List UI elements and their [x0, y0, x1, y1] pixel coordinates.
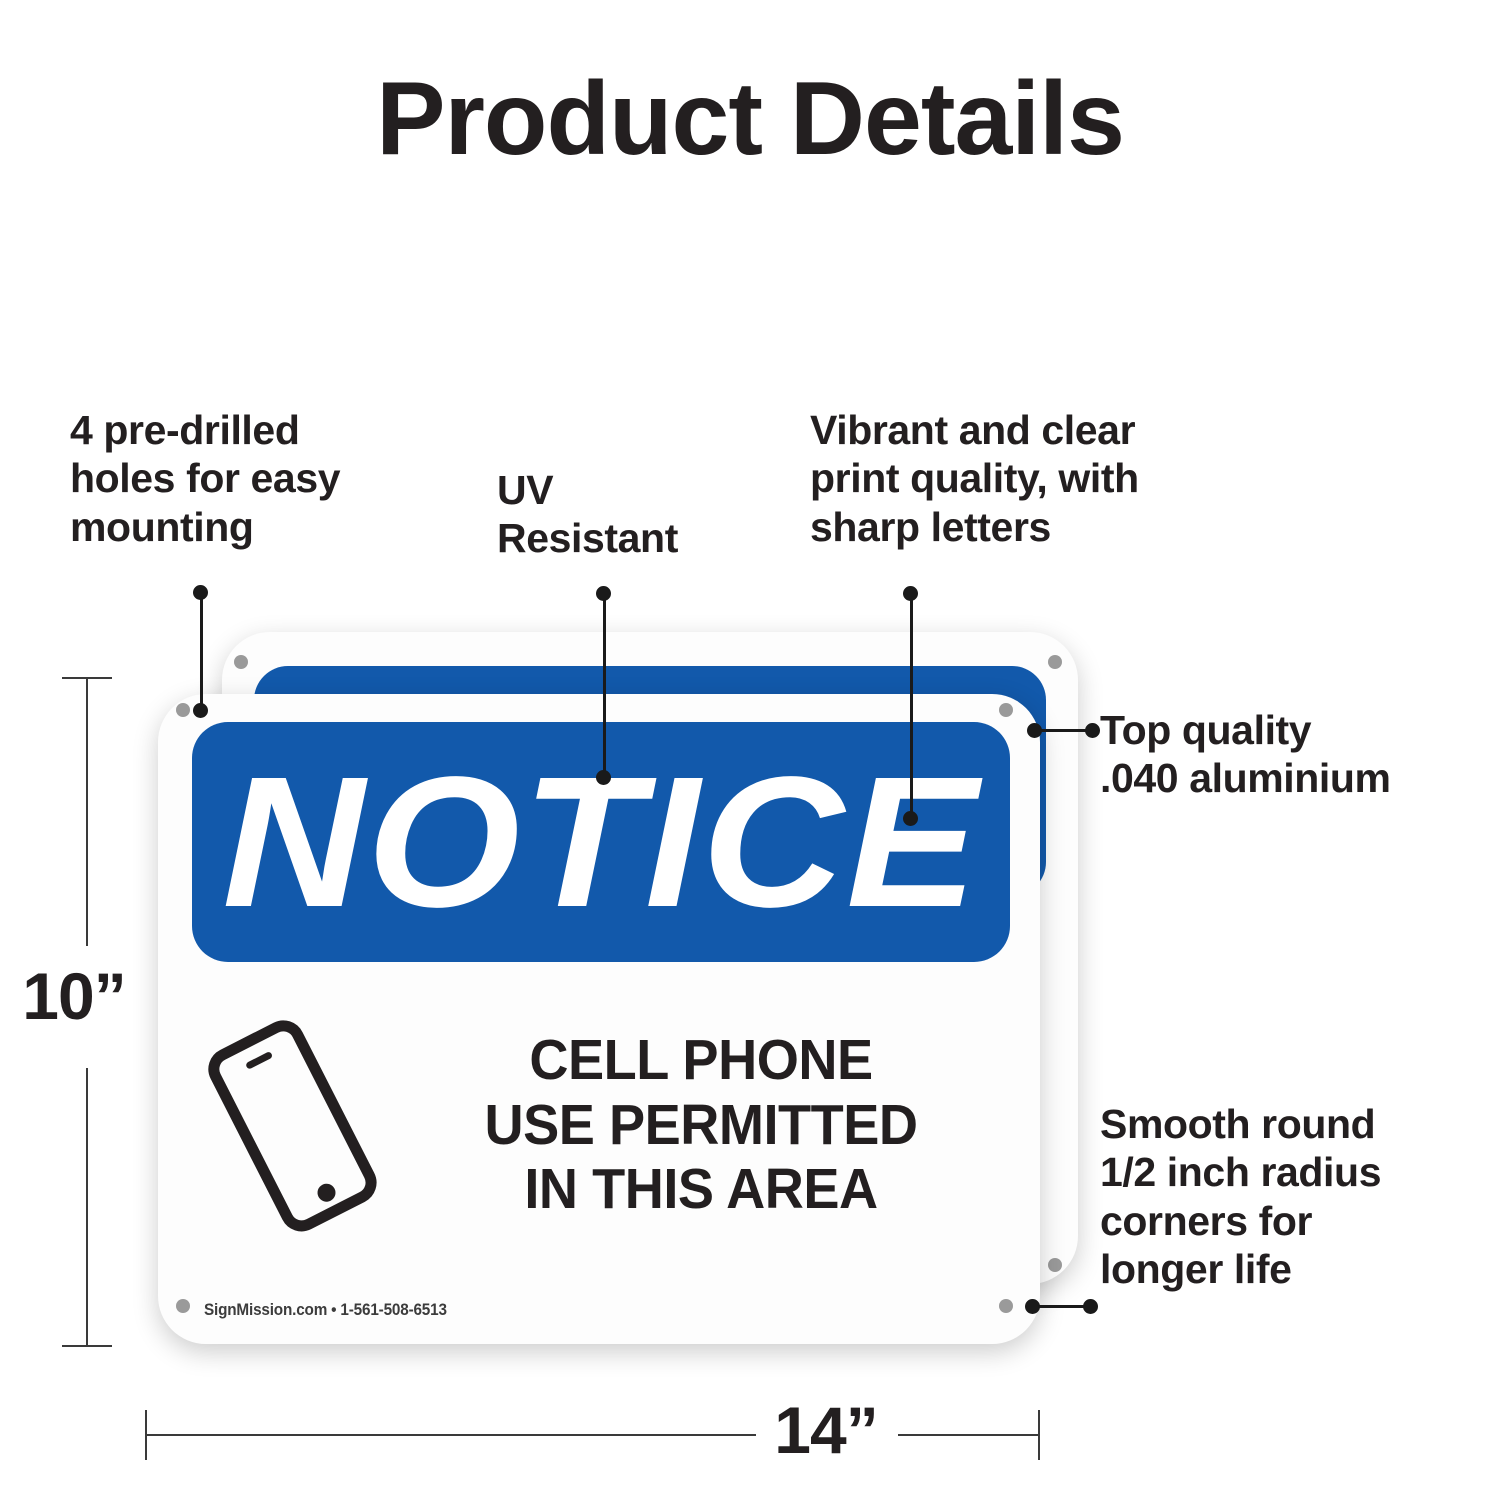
dimension-line-height-upper: [86, 678, 88, 946]
dimension-label-height: 10”: [14, 958, 134, 1034]
sign-message-line-1: CELL PHONE: [407, 1028, 994, 1093]
leader-dot-holes-end: [193, 703, 208, 718]
cell-phone-icon: [192, 1005, 392, 1245]
callout-uv-resistant: UV Resistant: [497, 466, 747, 563]
leader-dot-holes-start: [193, 585, 208, 600]
leader-dot-corners-end: [1083, 1299, 1098, 1314]
sign-body: CELL PHONE USE PERMITTED IN THIS AREA: [192, 1000, 1010, 1250]
notice-banner-text: NOTICE: [192, 722, 1010, 962]
leader-dot-uv-end: [596, 770, 611, 785]
leader-line-aluminium: [1034, 729, 1092, 732]
dimension-label-width: 14”: [746, 1392, 906, 1468]
callout-pre-drilled-holes: 4 pre-drilled holes for easy mounting: [70, 406, 440, 551]
mounting-hole-front-top-left: [176, 703, 190, 717]
mounting-hole-back-top-right: [1048, 655, 1062, 669]
mounting-hole-back-top-left: [234, 655, 248, 669]
leader-dot-print-quality-start: [903, 586, 918, 601]
mounting-hole-front-bottom-right: [999, 1299, 1013, 1313]
leader-dot-print-quality-end: [903, 811, 918, 826]
callout-rounded-corners: Smooth round 1/2 inch radius corners for…: [1100, 1100, 1500, 1294]
sign-message-line-2: USE PERMITTED: [407, 1093, 994, 1158]
leader-dot-corners-start: [1025, 1299, 1040, 1314]
dimension-line-height-lower: [86, 1068, 88, 1346]
leader-line-print-quality: [910, 594, 913, 818]
sign-message: CELL PHONE USE PERMITTED IN THIS AREA: [407, 1028, 994, 1223]
mounting-hole-back-bottom-right: [1048, 1258, 1062, 1272]
dimension-line-width-left: [146, 1434, 756, 1436]
dimension-cap-bottom: [62, 1345, 112, 1347]
leader-dot-aluminium-start: [1027, 723, 1042, 738]
leader-line-uv: [603, 594, 606, 778]
sign-message-line-3: IN THIS AREA: [407, 1157, 994, 1222]
mounting-hole-front-top-right: [999, 703, 1013, 717]
sign-footer-credit: SignMission.com • 1-561-508-6513: [204, 1300, 447, 1320]
dimension-line-width-right: [898, 1434, 1040, 1436]
leader-dot-uv-start: [596, 586, 611, 601]
callout-aluminium: Top quality .040 aluminium: [1100, 706, 1500, 803]
leader-line-holes: [200, 592, 203, 712]
leader-dot-aluminium-end: [1085, 723, 1100, 738]
leader-line-corners: [1032, 1305, 1090, 1308]
mounting-hole-front-bottom-left: [176, 1299, 190, 1313]
notice-banner-front: NOTICE: [192, 722, 1010, 962]
callout-print-quality: Vibrant and clear print quality, with sh…: [810, 406, 1280, 551]
dimension-cap-right: [1038, 1410, 1040, 1460]
